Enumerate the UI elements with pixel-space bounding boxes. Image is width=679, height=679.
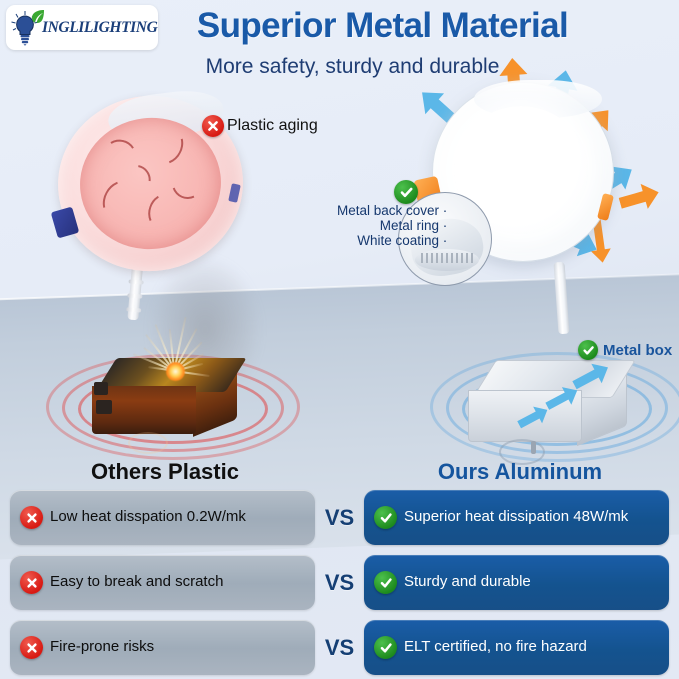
callout-plastic-aging-label: Plastic aging [227,117,318,135]
others-text-1: Low heat disspation 0.2W/mk [50,509,246,526]
others-cell-1: Low heat disspation 0.2W/mk [10,490,315,545]
check-badge-icon [374,571,397,594]
page-subtitle: More safety, sturdy and durable [0,55,679,79]
spark-burst [128,298,298,390]
ours-text-3: ELT certified, no fire hazard [404,639,587,656]
check-badge-icon [374,506,397,529]
white-coating-detail [421,253,475,263]
others-cell-2: Easy to break and scratch [10,555,315,610]
others-cell-3: Fire-prone risks [10,620,315,675]
logo-wordmark: INGLILIGHTING [42,19,157,37]
ours-cell-3: ELT certified, no fire hazard [364,620,669,675]
others-text-2: Easy to break and scratch [50,574,223,591]
metal-feature-line-2: Metal ring · [337,218,447,233]
metal-feature-line-3: White coating · [337,233,447,248]
column-heading-ours: Ours Aluminum [385,459,655,485]
ours-text-1: Superior heat dissipation 48W/mk [404,509,628,526]
metal-feature-line-1: Metal back cover · [337,203,447,218]
ours-cell-2: Sturdy and durable [364,555,669,610]
x-badge-icon [20,636,43,659]
ours-cell-1: Superior heat dissipation 48W/mk [364,490,669,545]
brand-logo: INGLILIGHTING [6,5,158,50]
x-badge-icon [202,115,224,137]
column-heading-others: Others Plastic [30,459,300,485]
others-text-3: Fire-prone risks [50,639,154,656]
spark-core [166,362,185,381]
junction-box-knockout [128,432,168,454]
comparison-row: Low heat disspation 0.2W/mk VS Superior … [0,490,679,545]
vs-separator-2: VS [315,570,364,596]
junction-box-clip-2 [96,400,112,414]
check-badge-icon [374,636,397,659]
check-badge-icon [394,180,418,204]
metal-box-slot [531,441,536,454]
x-badge-icon [20,506,43,529]
x-badge-icon [20,571,43,594]
check-badge-icon [578,340,598,360]
comparison-row: Fire-prone risks VS ELT certified, no fi… [0,620,679,675]
callout-plastic-aging: Plastic aging [202,115,318,137]
comparison-row: Easy to break and scratch VS Sturdy and … [0,555,679,610]
junction-box-clip-1 [94,382,108,395]
comparison-table: Low heat disspation 0.2W/mk VS Superior … [0,490,679,679]
callout-metal-box-label: Metal box [603,342,672,359]
callout-metal-box: Metal box [578,340,672,360]
marketing-infographic: INGLILIGHTING Superior Metal Material Mo… [0,0,679,679]
callout-metal-features: Metal back cover · Metal ring · White co… [337,203,447,248]
ours-text-2: Sturdy and durable [404,574,531,591]
lightbulb-icon [10,10,40,46]
vs-separator-1: VS [315,505,364,531]
leaf-icon [30,9,43,22]
vs-separator-3: VS [315,635,364,661]
